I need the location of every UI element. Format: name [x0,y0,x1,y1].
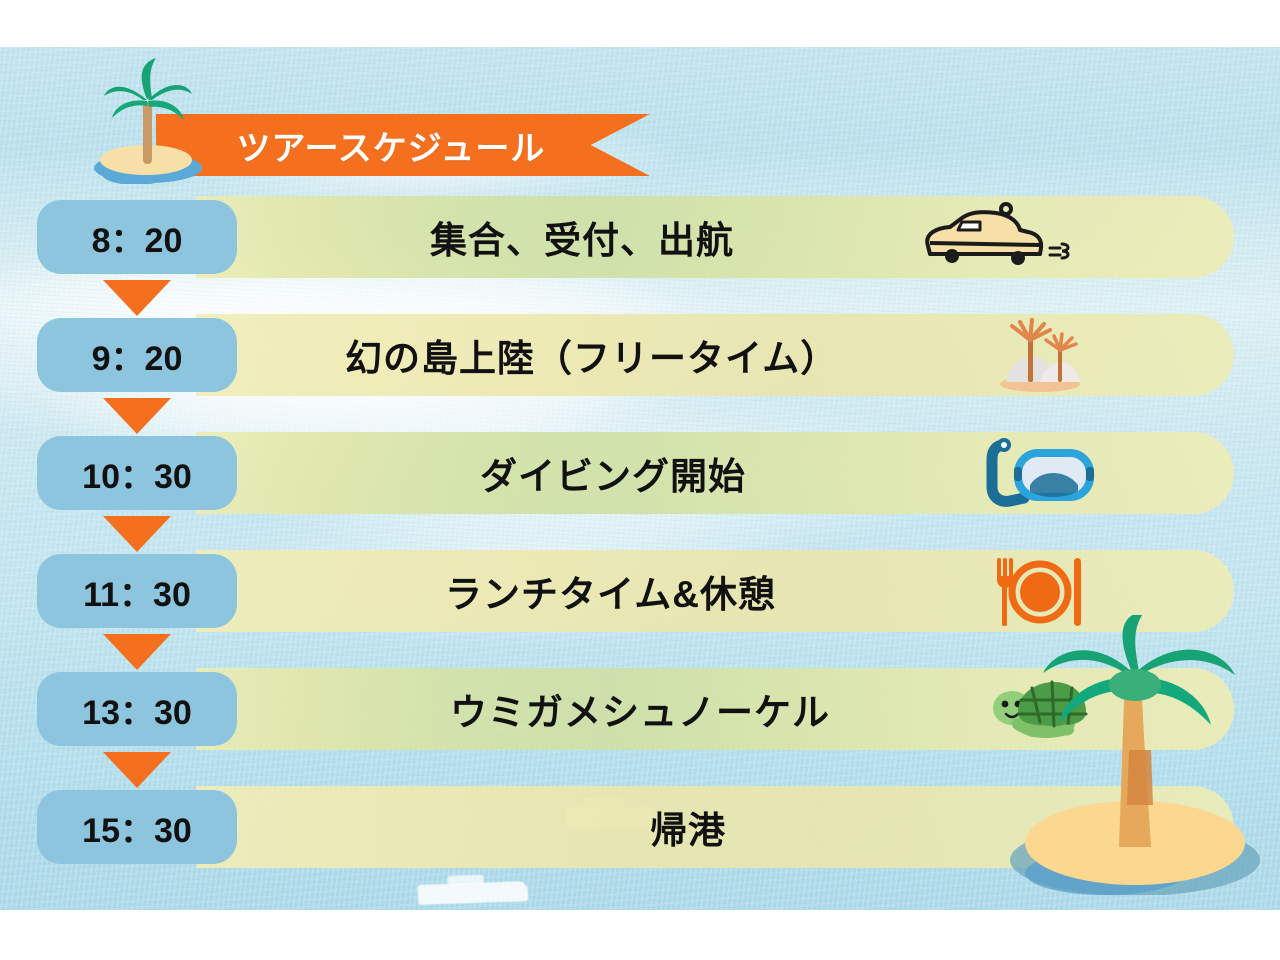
flow-arrow-icon [103,634,171,670]
palm-island-large-icon [985,615,1280,895]
time-badge: 9：20 [37,318,237,392]
schedule-row[interactable]: 9：20 幻の島上陸（フリータイム） [0,314,1280,396]
row-label: 集合、受付、出航 [430,196,734,278]
diving-mask-icon [975,432,1105,514]
time-badge: 8：20 [37,200,237,274]
bottom-white-margin [0,910,1280,960]
schedule-infographic: ツアースケジュール 8：20 集合、受付、出航 [0,0,1280,960]
schedule-row[interactable]: 10：30 ダイビング開始 [0,432,1280,514]
time-badge: 11：30 [37,554,237,628]
flow-arrow-icon [103,398,171,434]
time-badge: 13：30 [37,672,237,746]
time-badge: 10：30 [37,436,237,510]
row-label: ランチタイム&休憩 [445,550,776,632]
row-label: ダイビング開始 [480,432,746,514]
desert-island-icon [985,314,1095,396]
car-icon [905,196,1075,278]
row-label: 帰港 [650,786,726,868]
flow-arrow-icon [103,280,171,316]
row-label: 幻の島上陸（フリータイム） [345,314,838,396]
time-badge: 15：30 [37,790,237,864]
flow-arrow-icon [103,752,171,788]
flow-arrow-icon [103,516,171,552]
row-label: ウミガメシュノーケル [450,668,830,750]
schedule-row[interactable]: 8：20 集合、受付、出航 [0,196,1280,278]
